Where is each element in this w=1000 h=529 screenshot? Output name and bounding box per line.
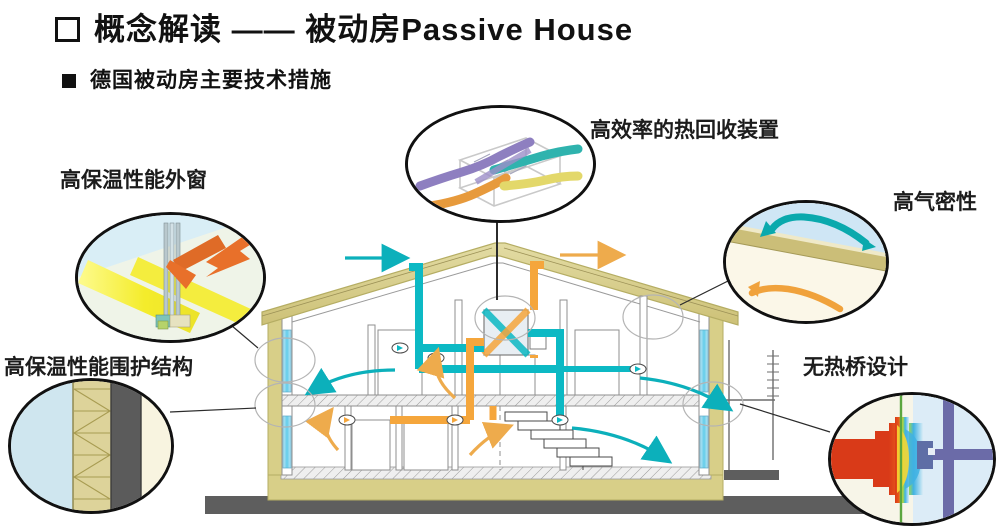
thermal-bridge-free-balcony [723, 340, 779, 480]
leader-thermal-bridge [740, 404, 830, 432]
callout-hrv-bubble [405, 105, 596, 223]
first-floor-slab [282, 395, 699, 406]
callout-window-label: 高保温性能外窗 [60, 170, 207, 191]
wall-insulation-layers-illustration [11, 381, 171, 511]
callout-envelope-label: 高保温性能围护结构 [4, 357, 193, 378]
heat-recovery-exchanger-illustration [408, 108, 593, 220]
callout-hrv-label: 高效率的热回收装置 [590, 120, 779, 141]
callout-window-bubble [75, 212, 266, 343]
thermal-bridge-simulation-illustration [831, 395, 993, 523]
callout-airtight-label: 高气密性 [893, 192, 977, 213]
airtight-membrane-illustration [726, 203, 886, 321]
insulated-ground-slab [268, 467, 723, 500]
slide-root: 概念解读 —— 被动房Passive House 德国被动房主要技术措施 [0, 0, 1000, 529]
callout-thermal-bridge-bubble [828, 392, 996, 526]
leader-envelope [170, 408, 256, 412]
marker-airtight [623, 295, 683, 339]
callout-envelope-bubble [8, 378, 174, 514]
callout-airtight-bubble [723, 200, 889, 324]
callout-thermal-bridge-label: 无热桥设计 [803, 357, 908, 378]
exterior-window-illustration [78, 215, 263, 340]
